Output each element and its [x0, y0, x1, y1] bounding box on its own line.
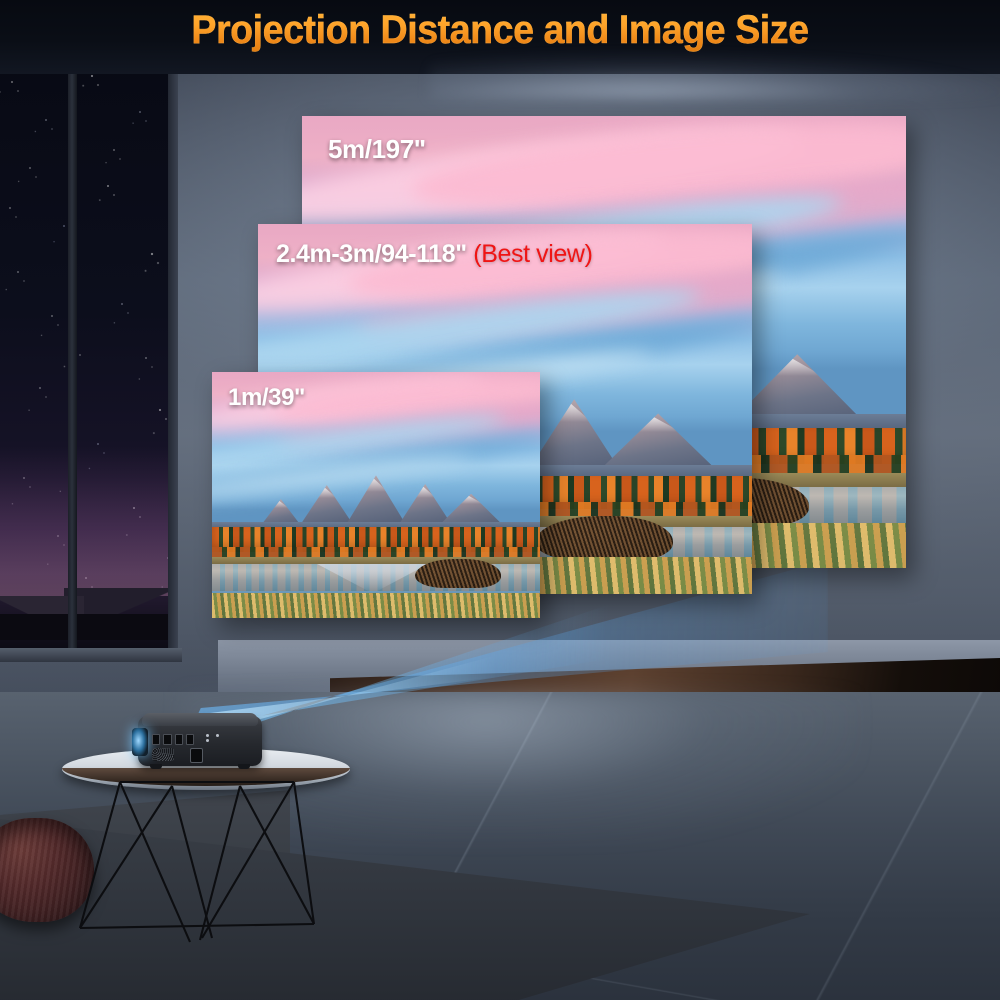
- window-sill: [0, 648, 182, 662]
- projector-power-socket: [190, 748, 203, 763]
- window-frame: [168, 58, 178, 658]
- ceiling-glow: [430, 52, 1000, 98]
- projection-screen-small: 1m/39": [212, 372, 540, 618]
- projector-top-panel: [142, 713, 258, 726]
- night-window: [0, 58, 176, 658]
- best-view-note: (Best view): [473, 240, 592, 268]
- projector-indicator-dots: [206, 734, 228, 743]
- projector-speaker-vent: [152, 748, 174, 761]
- projector-foot: [238, 764, 250, 769]
- screen-label-small: 1m/39": [228, 384, 305, 412]
- projector-lens: [132, 728, 148, 756]
- page-title: Projection Distance and Image Size: [30, 8, 970, 53]
- projector-device: [134, 708, 266, 770]
- window-mullion: [68, 58, 77, 658]
- horizon-mountains: [0, 570, 176, 640]
- projector-ports: [152, 734, 194, 745]
- product-infographic: 5m/197" 2.4m-3m/94-118" (Be: [0, 0, 1000, 1000]
- side-table-legs: [62, 778, 350, 946]
- screen-label-medium: 2.4m-3m/94-118" (Best view): [276, 240, 593, 269]
- screen-label-medium-text: 2.4m-3m/94-118": [276, 240, 467, 268]
- projector-foot: [150, 764, 162, 769]
- screen-label-large: 5m/197": [328, 134, 426, 165]
